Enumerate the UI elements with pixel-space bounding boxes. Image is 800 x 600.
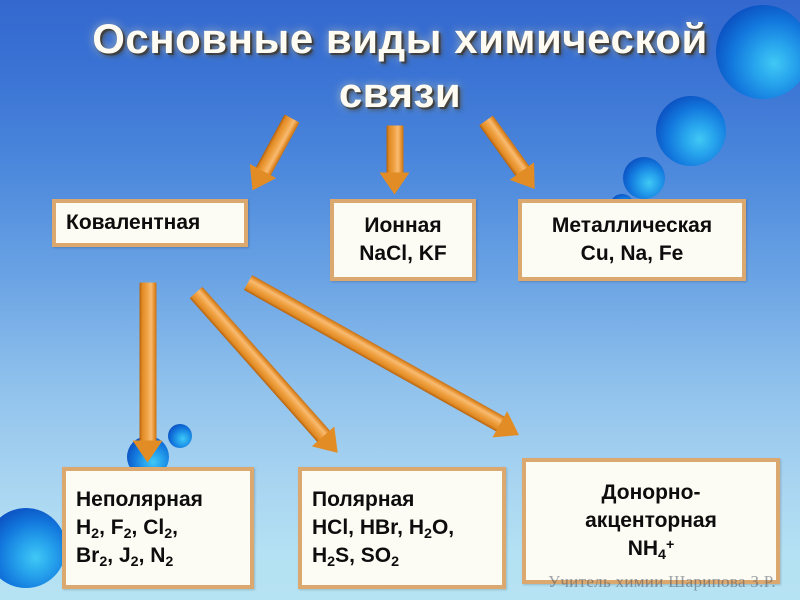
box-polyarnaya[interactable]: Полярная HCl, HBr, H2O, H2S, SO2 [298, 467, 506, 589]
arrow-shaft [479, 115, 530, 177]
box-ionnaya[interactable]: Ионная NaCl, KF [330, 199, 476, 281]
page-title-line-1: Основные виды химической [92, 15, 708, 62]
arrow-head [240, 164, 277, 198]
arrow-kovalentnaya-to-polyarnaya [190, 286, 345, 457]
subscript: 2 [165, 554, 173, 570]
arrow-head [133, 440, 163, 462]
slide-canvas: Основные виды химической связи Ковалентн… [0, 0, 800, 600]
arrow-title-to-ionnaya [387, 125, 404, 194]
box-polyarnaya-line-1: Полярная [312, 486, 414, 514]
arrow-head [380, 172, 410, 194]
box-nepolyarnaya-line-1: Неполярная [76, 486, 203, 514]
box-nepolyarnaya[interactable]: Неполярная H2, F2, Cl2, Br2, J2, N2 [62, 467, 254, 589]
box-metallicheskaya-line-2: Cu, Na, Fe [581, 240, 684, 268]
arrow-shaft [255, 114, 299, 177]
arrow-title-to-metallicheskaya [479, 115, 542, 193]
arrow-shaft [387, 125, 404, 174]
box-ionnaya-line-1: Ионная [364, 212, 441, 240]
box-donorno-line-2: акценторная [585, 507, 717, 535]
box-polyarnaya-line-3: H2S, SO2 [312, 542, 399, 570]
subscript: 2 [99, 554, 107, 570]
subscript: 2 [424, 526, 432, 542]
watermark-text: Учитель химии Шарипова З.Р. [548, 572, 798, 592]
subscript: 2 [91, 526, 99, 542]
arrow-shaft [140, 282, 157, 442]
box-kovalentnaya-line-1: Ковалентная [66, 209, 200, 237]
box-ionnaya-line-2: NaCl, KF [359, 240, 447, 268]
subscript: 2 [391, 554, 399, 570]
bubble-3 [623, 157, 665, 199]
box-kovalentnaya[interactable]: Ковалентная [52, 199, 248, 247]
box-donorno-line-3: NH4+ [628, 535, 675, 563]
arrow-kovalentnaya-to-donorno [244, 275, 523, 442]
box-metallicheskaya[interactable]: Металлическая Cu, Na, Fe [518, 199, 746, 281]
bubble-7 [0, 508, 66, 588]
arrow-shaft [190, 286, 331, 442]
arrow-head [312, 426, 349, 462]
box-polyarnaya-line-2: HCl, HBr, H2O, [312, 514, 454, 542]
arrow-head [510, 161, 547, 196]
page-title: Основные виды химической связи [0, 12, 800, 120]
subscript: 4 [658, 547, 666, 563]
box-donorno-akceptornaya[interactable]: Донорно- акценторная NH4+ [522, 458, 780, 584]
arrow-head [492, 410, 526, 447]
subscript: 2 [327, 554, 335, 570]
page-title-line-2: связи [0, 66, 800, 120]
subscript: 2 [164, 526, 172, 542]
bubble-5 [168, 424, 192, 448]
subscript: 2 [124, 526, 132, 542]
arrow-shaft [244, 275, 506, 432]
arrow-title-to-kovalentnaya [246, 114, 300, 194]
box-nepolyarnaya-line-3: Br2, J2, N2 [76, 542, 173, 570]
arrow-kovalentnaya-to-nepolyarnaya [140, 282, 157, 462]
subscript: 2 [131, 554, 139, 570]
box-nepolyarnaya-line-2: H2, F2, Cl2, [76, 514, 178, 542]
superscript: + [666, 537, 674, 553]
box-donorno-line-1: Донорно- [602, 479, 701, 507]
box-metallicheskaya-line-1: Металлическая [552, 212, 712, 240]
